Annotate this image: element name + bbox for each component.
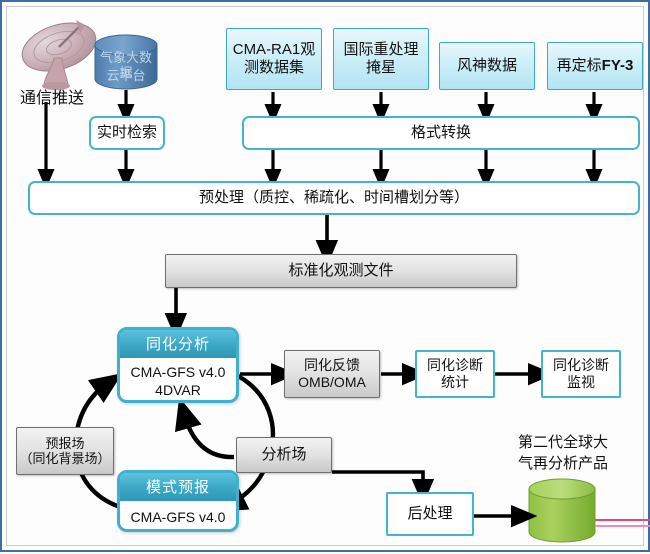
diagnostic-statistics-box[interactable]: 同化诊断 统计 — [415, 350, 495, 398]
model-forecast-header: 模式预报 — [120, 473, 236, 501]
assimilation-analysis-header: 同化分析 — [120, 330, 236, 358]
analysis-field-to-assimilation-arrow — [184, 414, 234, 457]
preprocess-box[interactable]: 预处理（质控、稀疏化、时间槽划分等） — [28, 181, 640, 215]
realtime-retrieval-box[interactable]: 实时检索 — [89, 116, 165, 150]
format-conversion-box[interactable]: 格式转换 — [242, 116, 640, 150]
communication-push-label: 通信推送 — [10, 90, 94, 109]
assimilation-analysis-box[interactable]: 同化分析 CMA-GFS v4.0 4DVAR — [117, 327, 239, 403]
source-box-cma-ra1[interactable]: CMA-RA1观 测数据集 — [226, 28, 322, 90]
source-box-fengshen-text: 风神数据 — [457, 57, 517, 75]
preprocess-label: 预处理（质控、稀疏化、时间槽划分等） — [199, 189, 469, 207]
realtime-retrieval-label: 实时检索 — [97, 124, 157, 142]
model-forecast-body: CMA-GFS v4.0 — [120, 501, 236, 532]
source-box-fengshen[interactable]: 风神数据 — [439, 42, 535, 90]
satellite-dish-icon — [16, 14, 102, 90]
source-box-cma-ra1-text: CMA-RA1观 测数据集 — [233, 41, 316, 76]
background-field-label: 预报场 （同化背景场） — [19, 436, 110, 467]
standard-observation-file-label: 标准化观测文件 — [288, 262, 393, 280]
reanalysis-product-cylinder-icon — [529, 479, 595, 542]
postprocess-label: 后处理 — [407, 505, 452, 523]
source-box-occultation[interactable]: 国际重处理 掩星 — [333, 28, 429, 90]
assimilation-feedback-box[interactable]: 同化反馈 OMB/OMA — [284, 350, 380, 398]
accent-line — [595, 520, 650, 526]
product-label-line2: 气再分析产品 — [507, 455, 619, 473]
diagnostic-monitoring-box[interactable]: 同化诊断 监视 — [541, 350, 621, 398]
diagnostic-statistics-label: 同化诊断 统计 — [427, 357, 483, 391]
postprocess-box[interactable]: 后处理 — [386, 492, 474, 536]
analysis-field-box[interactable]: 分析场 — [236, 437, 332, 473]
source-box-fy3[interactable]: 再定标FY-3 — [547, 42, 643, 90]
background-field-box[interactable]: 预报场 （同化背景场） — [16, 427, 114, 475]
standard-observation-file-box[interactable]: 标准化观测文件 — [165, 254, 517, 288]
diagram-frame: 气象大数据 云平台 第二代全球大 气再分析产品 通信推送 CMA-RA1观 测数… — [0, 0, 650, 552]
diagnostic-monitoring-label: 同化诊断 监视 — [553, 357, 609, 391]
model-forecast-box[interactable]: 模式预报 CMA-GFS v4.0 — [117, 470, 239, 532]
source-box-occultation-text: 国际重处理 掩星 — [343, 41, 418, 76]
cloud-platform-label-line2: 云平台 — [95, 68, 157, 83]
format-conversion-label: 格式转换 — [411, 124, 471, 142]
product-label-line1: 第二代全球大 — [507, 434, 619, 452]
analysis-field-label: 分析场 — [261, 446, 306, 464]
assimilation-analysis-body: CMA-GFS v4.0 4DVAR — [120, 358, 236, 403]
assimilation-feedback-label: 同化反馈 OMB/OMA — [298, 357, 366, 390]
source-box-fy3-text: 再定标FY-3 — [557, 57, 634, 75]
